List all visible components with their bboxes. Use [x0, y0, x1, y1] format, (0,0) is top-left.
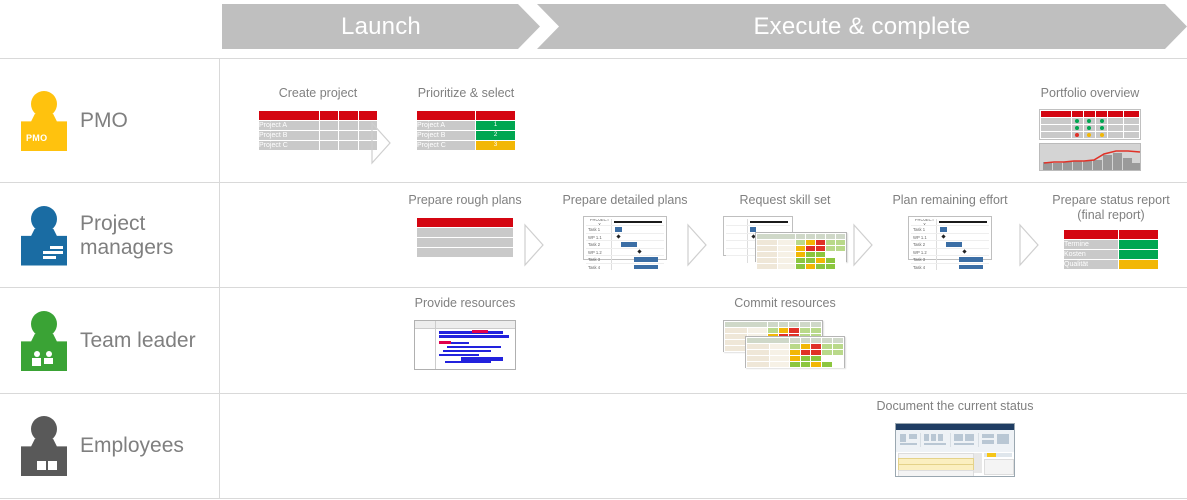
lane-title-project-managers: Project managers [80, 212, 219, 259]
status-row-label: Termine [1064, 240, 1118, 249]
step-label-create-project: Create project [238, 86, 398, 101]
step-commit-resources[interactable]: Commit resources [705, 296, 865, 368]
lane-header-project-managers[interactable]: Project managers [0, 183, 220, 288]
lane-employees: Employees Document the current status [0, 393, 1187, 499]
thumb-table-rough-plan[interactable] [385, 217, 545, 258]
step-plan-remaining-effort[interactable]: Plan remaining effort PROJECT X Task 1 W… [865, 193, 1035, 260]
step-label-request-skill-set: Request skill set [705, 193, 865, 208]
step-label-commit-resources: Commit resources [705, 296, 865, 311]
thumb-resource-histogram[interactable] [414, 320, 516, 370]
lane-body-employees: Document the current status [220, 394, 1187, 498]
lane-title-employees: Employees [80, 434, 184, 458]
gantt-task-label: Task 1 [911, 226, 937, 233]
status-row-label: Qualität [1064, 260, 1118, 269]
mini-person-icon [32, 351, 41, 366]
step-label-portfolio-overview: Portfolio overview [1010, 86, 1170, 101]
step-prioritize-select[interactable]: Prioritize & select Project A1 Project B… [382, 86, 550, 151]
gantt-task-label: Task 4 [586, 264, 612, 271]
gantt-task-label: Task 3 [586, 256, 612, 263]
pmo-badge-label: PMO [26, 133, 47, 143]
gantt-task-label: WP 1.2 [911, 249, 937, 256]
thumb-table-priorities[interactable]: Project A1 Project B2 Project C3 [382, 110, 550, 151]
step-label-prepare-detailed-plans: Prepare detailed plans [540, 193, 710, 208]
lane-title-pmo: PMO [80, 109, 128, 133]
phase-label-launch: Launch [341, 13, 421, 41]
square-icon [48, 461, 57, 470]
gantt-task-label: Task 4 [911, 264, 937, 271]
step-document-current-status[interactable]: Document the current status [840, 399, 1070, 477]
lane-header-employees[interactable]: Employees [0, 394, 220, 498]
thumb-gantt-with-matrix[interactable] [723, 216, 847, 262]
office-worksheet[interactable] [896, 452, 1014, 476]
lane-pmo: PMO PMO Create project Project A Project… [0, 58, 1187, 183]
lane-header-team-leader[interactable]: Team leader [0, 288, 220, 394]
step-label-provide-resources: Provide resources [385, 296, 545, 311]
thumb-gantt-chart[interactable]: PROJECT X Task 1 WP 1.1 Task 2 WP 1.2 Ta… [908, 216, 992, 260]
phase-banner-launch[interactable]: Launch [222, 4, 540, 49]
step-prepare-status-report[interactable]: Prepare status report (final report) Ter… [1035, 193, 1187, 270]
phase-header-band: Launch Execute & complete [0, 0, 1187, 50]
step-provide-resources[interactable]: Provide resources [385, 296, 545, 370]
step-label-prepare-status-report: Prepare status report (final report) [1035, 193, 1187, 223]
step-request-skill-set[interactable]: Request skill set [705, 193, 865, 262]
thumb-office-application[interactable] [895, 423, 1015, 477]
gantt-task-label: Task 2 [911, 241, 937, 248]
lane-body-team-leader: Provide resources [220, 288, 1187, 394]
gantt-task-label: Task 3 [911, 256, 937, 263]
phase-label-execute: Execute & complete [753, 13, 970, 41]
thumb-portfolio-dashboard[interactable] [1039, 109, 1141, 171]
lane-header-pmo[interactable]: PMO PMO [0, 59, 220, 183]
office-ribbon [896, 430, 1014, 453]
step-label-document-current-status: Document the current status [840, 399, 1070, 414]
gantt-project-label: PROJECT X [911, 219, 937, 226]
gantt-task-label: Task 1 [586, 226, 612, 233]
document-lines-icon [43, 244, 63, 259]
status-row-label: Kosten [1064, 250, 1118, 259]
step-label-plan-remaining-effort: Plan remaining effort [865, 193, 1035, 208]
thumb-table-status-report[interactable]: Termine Kosten Qualität [1035, 229, 1187, 270]
lane-body-project-managers: Prepare rough plans Prepare detailed pla… [220, 183, 1187, 288]
lane-title-team-leader: Team leader [80, 329, 196, 353]
gantt-project-label: PROJECT X [586, 219, 612, 226]
person-team-icon [18, 311, 70, 371]
phase-banner-execute[interactable]: Execute & complete [537, 4, 1187, 49]
step-label-prioritize-select: Prioritize & select [382, 86, 550, 101]
mini-person-icon [44, 351, 53, 364]
person-employee-icon [18, 416, 70, 476]
step-prepare-detailed-plans[interactable]: Prepare detailed plans PROJECT X Task 1 … [540, 193, 710, 260]
thumb-gantt-chart[interactable]: PROJECT X Task 1 WP 1.1 Task 2 WP 1.2 Ta… [583, 216, 667, 260]
lane-project-managers: Project managers Prepare rough plans [0, 182, 1187, 288]
gantt-task-label: WP 1.2 [586, 249, 612, 256]
gantt-task-label: Task 2 [586, 241, 612, 248]
swimlane-process-diagram: Launch Execute & complete PMO PMO Create… [0, 0, 1187, 500]
gantt-task-label: WP 1.1 [911, 234, 937, 241]
thumb-resource-matrix-stack[interactable] [723, 320, 847, 368]
step-label-prepare-rough-plans: Prepare rough plans [385, 193, 545, 208]
lane-team-leader: Team leader Provide resources [0, 287, 1187, 394]
step-prepare-rough-plans[interactable]: Prepare rough plans [385, 193, 545, 258]
gantt-task-label: WP 1.1 [586, 234, 612, 241]
lane-body-pmo: Create project Project A Project B Proje… [220, 59, 1187, 183]
person-manager-icon [18, 206, 70, 266]
square-icon [37, 461, 46, 470]
person-pmo-icon: PMO [18, 91, 70, 151]
step-portfolio-overview[interactable]: Portfolio overview [1010, 86, 1170, 171]
